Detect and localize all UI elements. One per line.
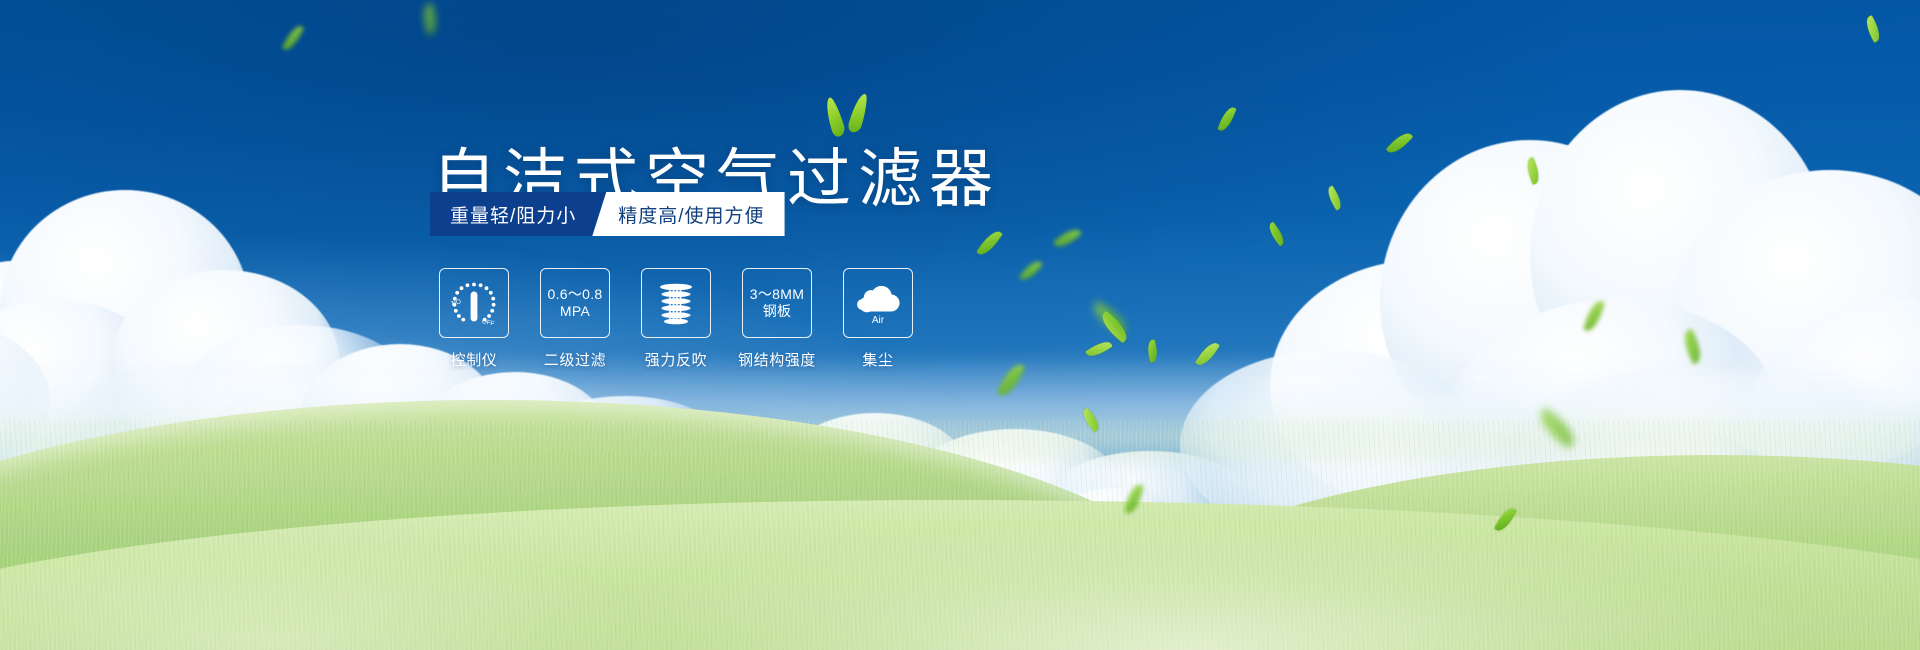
- steel-plate-text-icon: 3～8MM 钢板: [750, 286, 804, 320]
- product-banner: 自洁式空气过滤器 重量轻/阻力小 精度高/使用方便: [0, 0, 1920, 650]
- feature-label: 控制仪: [451, 349, 498, 370]
- subtitle-tab-secondary[interactable]: 精度高/使用方便: [592, 192, 784, 236]
- feature-item-pressure[interactable]: 0.6～0.8 MPA 二级过滤: [539, 268, 611, 370]
- feature-box: 0.6～0.8 MPA: [540, 268, 610, 338]
- subtitle-tab-primary[interactable]: 重量轻/阻力小: [430, 192, 606, 236]
- feature-label: 强力反吹: [645, 349, 707, 370]
- feature-box: [641, 268, 711, 338]
- feature-item-controller[interactable]: NO OFF 控制仪: [438, 268, 510, 370]
- feature-box: 3～8MM 钢板: [742, 268, 812, 338]
- pressure-unit: MPA: [547, 303, 602, 320]
- pressure-text-icon: 0.6～0.8 MPA: [547, 286, 602, 320]
- feature-label: 集尘: [862, 349, 893, 370]
- feature-label: 钢结构强度: [738, 349, 816, 370]
- subtitle-tabs: 重量轻/阻力小 精度高/使用方便: [430, 192, 785, 236]
- filter-cartridge-icon: [650, 277, 702, 329]
- air-label: Air: [872, 315, 885, 326]
- feature-label: 二级过滤: [544, 349, 606, 370]
- feature-item-backblow[interactable]: 强力反吹: [640, 268, 712, 370]
- steel-material: 钢板: [750, 303, 804, 320]
- gauge-dial-icon: NO OFF: [445, 274, 503, 332]
- feature-item-steel[interactable]: 3～8MM 钢板 钢结构强度: [741, 268, 813, 370]
- steel-thickness: 3～8MM: [750, 286, 804, 303]
- cloud-air-icon: Air: [850, 277, 906, 329]
- gauge-off-label: OFF: [481, 318, 495, 328]
- feature-item-dust[interactable]: Air 集尘: [842, 268, 914, 370]
- feature-list: NO OFF 控制仪 0.6～0.8 MPA 二级过滤: [438, 268, 914, 370]
- feature-box: NO OFF: [439, 268, 509, 338]
- pressure-value: 0.6～0.8: [547, 286, 602, 303]
- gauge-on-label: NO: [451, 298, 462, 307]
- feature-box: Air: [843, 268, 913, 338]
